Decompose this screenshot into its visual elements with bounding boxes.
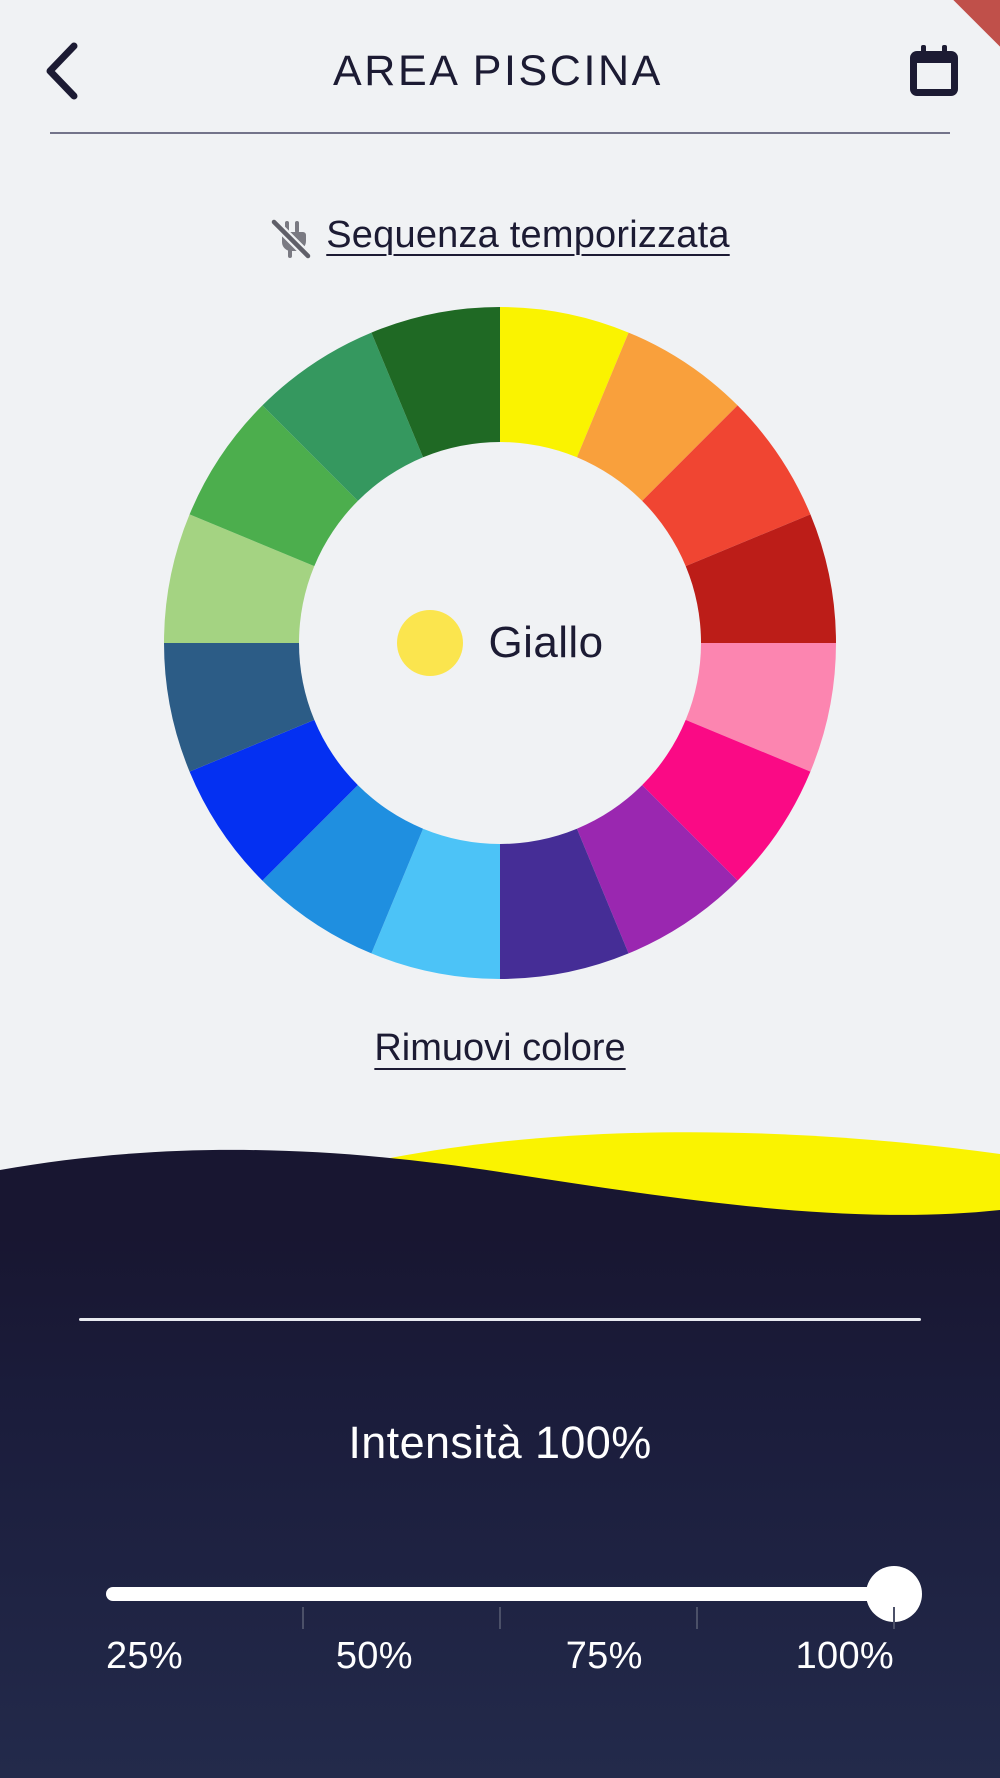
slider-tick (893, 1607, 895, 1629)
intensity-footer: Intensità 100% 25%50%75%100% (0, 1118, 1000, 1778)
slider-tick-label: 50% (336, 1635, 413, 1678)
intensity-label: Intensità 100% (70, 1417, 930, 1469)
footer-body: Intensità 100% 25%50%75%100% (0, 1236, 1000, 1778)
slider-tick-labels: 25%50%75%100% (106, 1635, 894, 1678)
color-wheel-center: Giallo (299, 442, 701, 844)
slider-ticks (106, 1607, 894, 1629)
back-button[interactable] (30, 39, 94, 103)
slider-track[interactable] (106, 1587, 894, 1601)
timed-sequence-label: Sequenza temporizzata (326, 214, 729, 257)
page-title: AREA PISCINA (94, 47, 902, 96)
plug-disconnected-icon (270, 217, 312, 259)
remove-color-button[interactable]: Rimuovi colore (374, 1027, 625, 1070)
calendar-icon (907, 43, 961, 99)
slider-tick-label: 75% (566, 1635, 643, 1678)
slider-tick-label: 100% (796, 1635, 894, 1678)
slider-tick-label: 25% (106, 1635, 183, 1678)
header-divider (50, 132, 950, 134)
intensity-slider[interactable]: 25%50%75%100% (70, 1587, 930, 1678)
remove-color-row: Rimuovi colore (0, 1027, 1000, 1070)
chevron-left-icon (42, 42, 82, 100)
slider-tick (302, 1607, 304, 1629)
wave-divider (0, 1118, 1000, 1248)
color-wheel[interactable]: Giallo (164, 307, 836, 979)
footer-divider (79, 1318, 921, 1321)
calendar-button[interactable] (902, 39, 966, 103)
top-bar: AREA PISCINA (0, 0, 1000, 142)
selected-color-name: Giallo (489, 618, 604, 668)
slider-tick (696, 1607, 698, 1629)
timed-sequence-link[interactable]: Sequenza temporizzata (0, 214, 1000, 257)
selected-color-swatch (397, 610, 463, 676)
slider-tick (499, 1607, 501, 1629)
